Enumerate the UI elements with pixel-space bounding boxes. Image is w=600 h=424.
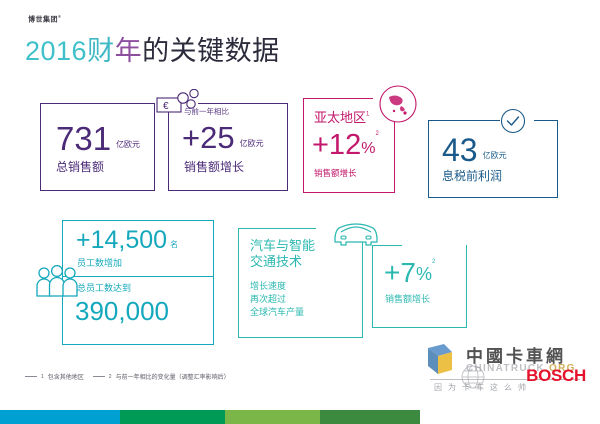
sales-growth-caption: 销售额增长 xyxy=(184,161,244,175)
colorbar-segment-darkgreen xyxy=(320,410,420,424)
total-sales-caption: 总销售额 xyxy=(56,161,104,175)
card-border-left xyxy=(372,245,373,328)
check-circle-icon xyxy=(500,108,526,134)
card-sales-growth: 与前一年相比 +25 亿欧元 销售额增长 xyxy=(168,103,288,191)
card-border-right xyxy=(213,220,214,345)
card-border-bottom xyxy=(428,197,558,198)
sales-growth-value: +25 xyxy=(182,122,235,153)
card-border-left xyxy=(40,103,41,191)
card-border-top xyxy=(428,120,500,121)
card-border-left xyxy=(238,228,239,338)
ebit-caption: 息税前利润 xyxy=(442,170,502,184)
page-title-part-year: 2016 xyxy=(25,36,87,66)
footnote-2: 2 与前一年相比的变化量（调整汇率影响后） xyxy=(93,372,230,381)
card-border-top xyxy=(40,103,155,104)
card-border-top xyxy=(198,103,288,104)
watermark: 中國卡車網 CHINATRUCK.ORG 因为卡车这么帅 BOSCH xyxy=(420,338,590,400)
employee-total-value: 390,000 xyxy=(75,298,169,324)
card-border-top xyxy=(238,228,316,229)
asia-pacific-percent-sign: % xyxy=(361,140,375,158)
footnote-2-index: 2 xyxy=(109,374,112,380)
svg-text:€: € xyxy=(163,101,169,112)
card-border-top xyxy=(303,98,373,99)
colorbar-segment-blue xyxy=(0,410,120,424)
ebit-value: 43 xyxy=(442,134,478,166)
footnotes: 1 包含其他地区 2 与前一年相比的变化量（调整汇率影响后） xyxy=(25,372,230,381)
asia-pacific-map-icon xyxy=(378,84,418,124)
mobility-title-line1: 汽车与智能 xyxy=(250,238,315,254)
employee-increase-value: +14,500 xyxy=(76,228,167,253)
mobility-title-line2: 交通技术 xyxy=(250,254,315,270)
euro-note-coins-icon: € xyxy=(156,89,206,115)
page-title-part-nian: 年 xyxy=(115,36,143,66)
card-border-right xyxy=(287,103,288,191)
card-total-sales: 731 亿欧元 总销售额 xyxy=(40,103,155,191)
ebit-unit: 亿欧元 xyxy=(483,150,507,161)
card-border-bottom xyxy=(62,344,214,345)
card-border-bottom xyxy=(238,337,363,338)
employee-total-kicker: 总员工数达到 xyxy=(77,283,131,294)
footnote-dash-icon xyxy=(25,376,37,377)
total-sales-value: 731 xyxy=(56,122,111,155)
bosch-logo-text: BOSCH xyxy=(526,366,586,386)
employee-increase-unit: 名 xyxy=(170,239,178,250)
employee-increase-caption: 员工数增加 xyxy=(77,258,122,269)
colorbar-segment-lightgreen xyxy=(225,410,320,424)
asia-pacific-value-footnote-ref: 2 xyxy=(375,131,378,137)
infographic-canvas: 博世集团® 2016财年的关键数据 731 亿欧元 总销售额 与前一年相比 +2… xyxy=(0,0,600,424)
card-mobility-growth: +7 % 2 销售额增长 xyxy=(372,245,467,328)
registered-mark: ® xyxy=(58,14,61,19)
mobility-body-line1: 增长速度 xyxy=(250,280,304,293)
card-employees: +14,500 名 员工数增加 总员工数达到 390,000 xyxy=(62,220,214,345)
people-group-icon xyxy=(34,265,80,299)
sales-growth-unit: 亿欧元 xyxy=(240,138,264,149)
chinatruck-logo-icon xyxy=(422,340,462,380)
card-border-right xyxy=(466,245,467,328)
card-border-left xyxy=(303,98,304,193)
bosch-colorbar xyxy=(0,410,600,424)
footnote-dash-icon xyxy=(93,376,105,377)
asia-pacific-caption: 销售额增长 xyxy=(314,168,357,179)
footnote-1-index: 1 xyxy=(41,374,44,380)
page-title-part-rest: 的关键数据 xyxy=(142,36,280,66)
card-border-bottom xyxy=(168,190,288,191)
mobility-growth-value: +7 xyxy=(384,259,416,287)
page-title: 2016财年的关键数据 xyxy=(25,38,280,65)
colorbar-segment-green xyxy=(120,410,225,424)
card-border-top xyxy=(372,245,402,246)
bosch-group-wordmark: 博世集团® xyxy=(28,14,61,24)
mobility-growth-caption: 销售额增长 xyxy=(385,294,430,305)
card-border-top-right xyxy=(534,120,558,121)
card-border-bottom xyxy=(303,192,395,193)
colorbar-segment-white xyxy=(420,410,600,424)
card-border-right xyxy=(154,103,155,191)
mobility-growth-percent-sign: % xyxy=(416,264,432,285)
page-title-part-cai: 财 xyxy=(87,36,115,66)
card-ebit: 43 亿欧元 息税前利润 xyxy=(428,120,558,198)
footnote-1: 1 包含其他地区 xyxy=(25,372,84,381)
card-border-bottom xyxy=(372,327,467,328)
card-border-left xyxy=(428,120,429,198)
total-sales-unit: 亿欧元 xyxy=(116,139,140,150)
card-border-right xyxy=(557,120,558,198)
card-border-top xyxy=(62,220,214,221)
mobility-body-line3: 全球汽车产量 xyxy=(250,306,304,319)
card-divider xyxy=(62,276,214,277)
asia-pacific-region-label: 亚太地区 xyxy=(314,110,366,125)
mobility-body-line2: 再次超过 xyxy=(250,293,304,306)
mobility-growth-footnote-ref: 2 xyxy=(432,259,435,265)
footnote-1-text: 包含其他地区 xyxy=(48,372,84,381)
footnote-2-text: 与前一年相比的变化量（调整汇率影响后） xyxy=(116,372,230,381)
card-border-left xyxy=(168,103,169,191)
asia-pacific-value: +12 xyxy=(312,131,361,160)
bosch-group-wordmark-text: 博世集团 xyxy=(28,16,58,23)
globe-icon xyxy=(460,364,486,390)
asia-pacific-region-footnote-ref: 1 xyxy=(366,112,369,118)
card-border-bottom xyxy=(40,190,155,191)
